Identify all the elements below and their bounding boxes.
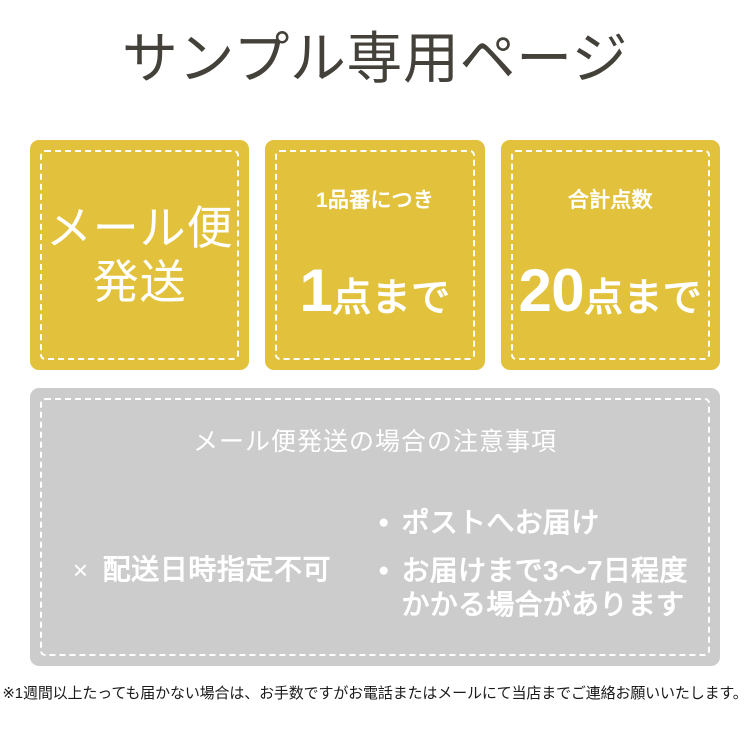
shipping-condition-cards: メール便 発送 1品番につき 1 点まで 合計点数 20 点まで bbox=[30, 140, 720, 370]
notice-bullet-text-delivery-time: お届けまで3〜7日程度 かかる場合があります bbox=[401, 554, 687, 622]
bullet-dot-icon: ● bbox=[378, 554, 389, 588]
page-title: サンプル専用ページ bbox=[0, 28, 750, 90]
notice-no-date-designation-label: 配送日時指定不可 bbox=[103, 556, 331, 584]
notice-panel-title: メール便発送の場合の注意事項 bbox=[30, 430, 720, 455]
card-mail-shipping: メール便 発送 bbox=[30, 140, 249, 370]
footer-disclaimer: ※1週間以上たっても届かない場合は、お手数ですがお電話またはメールにて当店までご… bbox=[0, 684, 750, 704]
list-item: ● お届けまで3〜7日程度 かかる場合があります bbox=[378, 554, 720, 622]
cross-mark-icon: × bbox=[73, 557, 89, 583]
card-per-item-limit-value: 1 点まで bbox=[265, 261, 484, 321]
notice-bullet-list: ● ポストへお届け ● お届けまで3〜7日程度 かかる場合があります bbox=[378, 500, 720, 636]
notice-no-date-designation: × 配送日時指定不可 bbox=[30, 500, 378, 640]
card-mail-shipping-line-1: メール便 bbox=[30, 201, 249, 255]
card-per-item-limit-heading: 1品番につき bbox=[265, 190, 484, 211]
notice-bullet-text-delivery-to-post: ポストへお届け bbox=[401, 506, 599, 540]
bullet-dot-icon: ● bbox=[378, 506, 389, 540]
card-total-quantity-limit-number: 20 bbox=[518, 261, 584, 321]
notice-no-date-designation-text: × 配送日時指定不可 bbox=[73, 556, 331, 584]
card-total-quantity-limit-unit: 点まで bbox=[584, 279, 702, 318]
card-total-quantity-limit-heading: 合計点数 bbox=[501, 190, 720, 211]
card-total-quantity-limit-value: 20 点まで bbox=[501, 261, 720, 321]
card-mail-shipping-line-2: 発送 bbox=[30, 255, 249, 309]
card-per-item-limit: 1品番につき 1 点まで bbox=[265, 140, 484, 370]
sample-shipping-info-banner: サンプル専用ページ メール便 発送 1品番につき 1 点まで 合計点数 bbox=[0, 0, 750, 750]
mail-shipping-notice-panel: メール便発送の場合の注意事項 × 配送日時指定不可 ● ポストへお届け ● お届… bbox=[30, 388, 720, 666]
list-item: ● ポストへお届け bbox=[378, 506, 720, 540]
card-total-quantity-limit: 合計点数 20 点まで bbox=[501, 140, 720, 370]
card-mail-shipping-content: メール便 発送 bbox=[30, 201, 249, 310]
card-per-item-limit-content: 1品番につき 1 点まで bbox=[265, 190, 484, 321]
card-per-item-limit-number: 1 bbox=[300, 261, 333, 321]
card-per-item-limit-unit: 点まで bbox=[332, 279, 450, 318]
card-total-quantity-limit-content: 合計点数 20 点まで bbox=[501, 190, 720, 321]
notice-panel-body: × 配送日時指定不可 ● ポストへお届け ● お届けまで3〜7日程度 かかる場合… bbox=[30, 500, 720, 650]
